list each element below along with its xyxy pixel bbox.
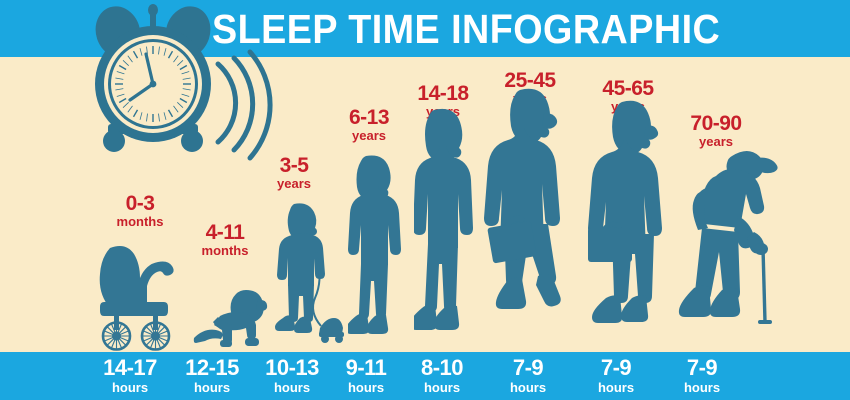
hours-unit-4: hours xyxy=(404,381,480,395)
age-range-7: 70-90 xyxy=(674,113,758,135)
hours-value-5: 7-9 xyxy=(490,352,566,381)
hours-unit-7: hours xyxy=(664,381,740,395)
age-label-0: 0-3 months xyxy=(98,193,182,229)
age-range-3: 6-13 xyxy=(327,107,411,129)
age-unit-3: years xyxy=(327,129,411,143)
adult-with-briefcase-silhouette xyxy=(484,84,574,352)
hours-unit-2: hours xyxy=(250,381,334,395)
middle-aged-with-briefcase-silhouette xyxy=(588,96,674,352)
age-range-4: 14-18 xyxy=(401,83,485,105)
crawling-baby-silhouette xyxy=(190,286,268,352)
baby-carriage-silhouette xyxy=(96,240,186,352)
hours-cell-6: 7-9 hours xyxy=(578,352,654,400)
page-title: SLEEP TIME INFOGRAPHIC xyxy=(212,5,764,55)
elderly-with-cane-silhouette xyxy=(676,136,784,352)
hours-unit-1: hours xyxy=(170,381,254,395)
child-silhouette xyxy=(348,152,408,352)
age-label-3: 6-13 years xyxy=(327,107,411,143)
hours-value-0: 14-17 xyxy=(88,352,172,381)
hours-cell-3: 9-11 hours xyxy=(328,352,404,400)
hours-value-4: 8-10 xyxy=(404,352,480,381)
hours-unit-0: hours xyxy=(88,381,172,395)
sleep-time-infographic: SLEEP TIME INFOGRAPHIC 0-3 months 4-11 m… xyxy=(0,0,850,400)
hours-cell-0: 14-17 hours xyxy=(88,352,172,400)
hours-unit-5: hours xyxy=(490,381,566,395)
age-label-2: 3-5 years xyxy=(252,155,336,191)
teenager-silhouette xyxy=(414,104,480,352)
hours-value-7: 7-9 xyxy=(664,352,740,381)
hours-cell-2: 10-13 hours xyxy=(250,352,334,400)
toddler-with-pull-toy-silhouette xyxy=(272,200,346,352)
hours-value-6: 7-9 xyxy=(578,352,654,381)
age-unit-0: months xyxy=(98,215,182,229)
hours-value-3: 9-11 xyxy=(328,352,404,381)
hours-unit-6: hours xyxy=(578,381,654,395)
age-label-1: 4-11 months xyxy=(183,222,267,258)
age-range-0: 0-3 xyxy=(98,193,182,215)
age-unit-1: months xyxy=(183,244,267,258)
hours-cell-1: 12-15 hours xyxy=(170,352,254,400)
hours-cell-7: 7-9 hours xyxy=(664,352,740,400)
hours-cell-4: 8-10 hours xyxy=(404,352,480,400)
hours-unit-3: hours xyxy=(328,381,404,395)
hours-value-2: 10-13 xyxy=(250,352,334,381)
age-unit-2: years xyxy=(252,177,336,191)
age-range-2: 3-5 xyxy=(252,155,336,177)
age-range-1: 4-11 xyxy=(183,222,267,244)
hours-value-1: 12-15 xyxy=(170,352,254,381)
hours-cell-5: 7-9 hours xyxy=(490,352,566,400)
